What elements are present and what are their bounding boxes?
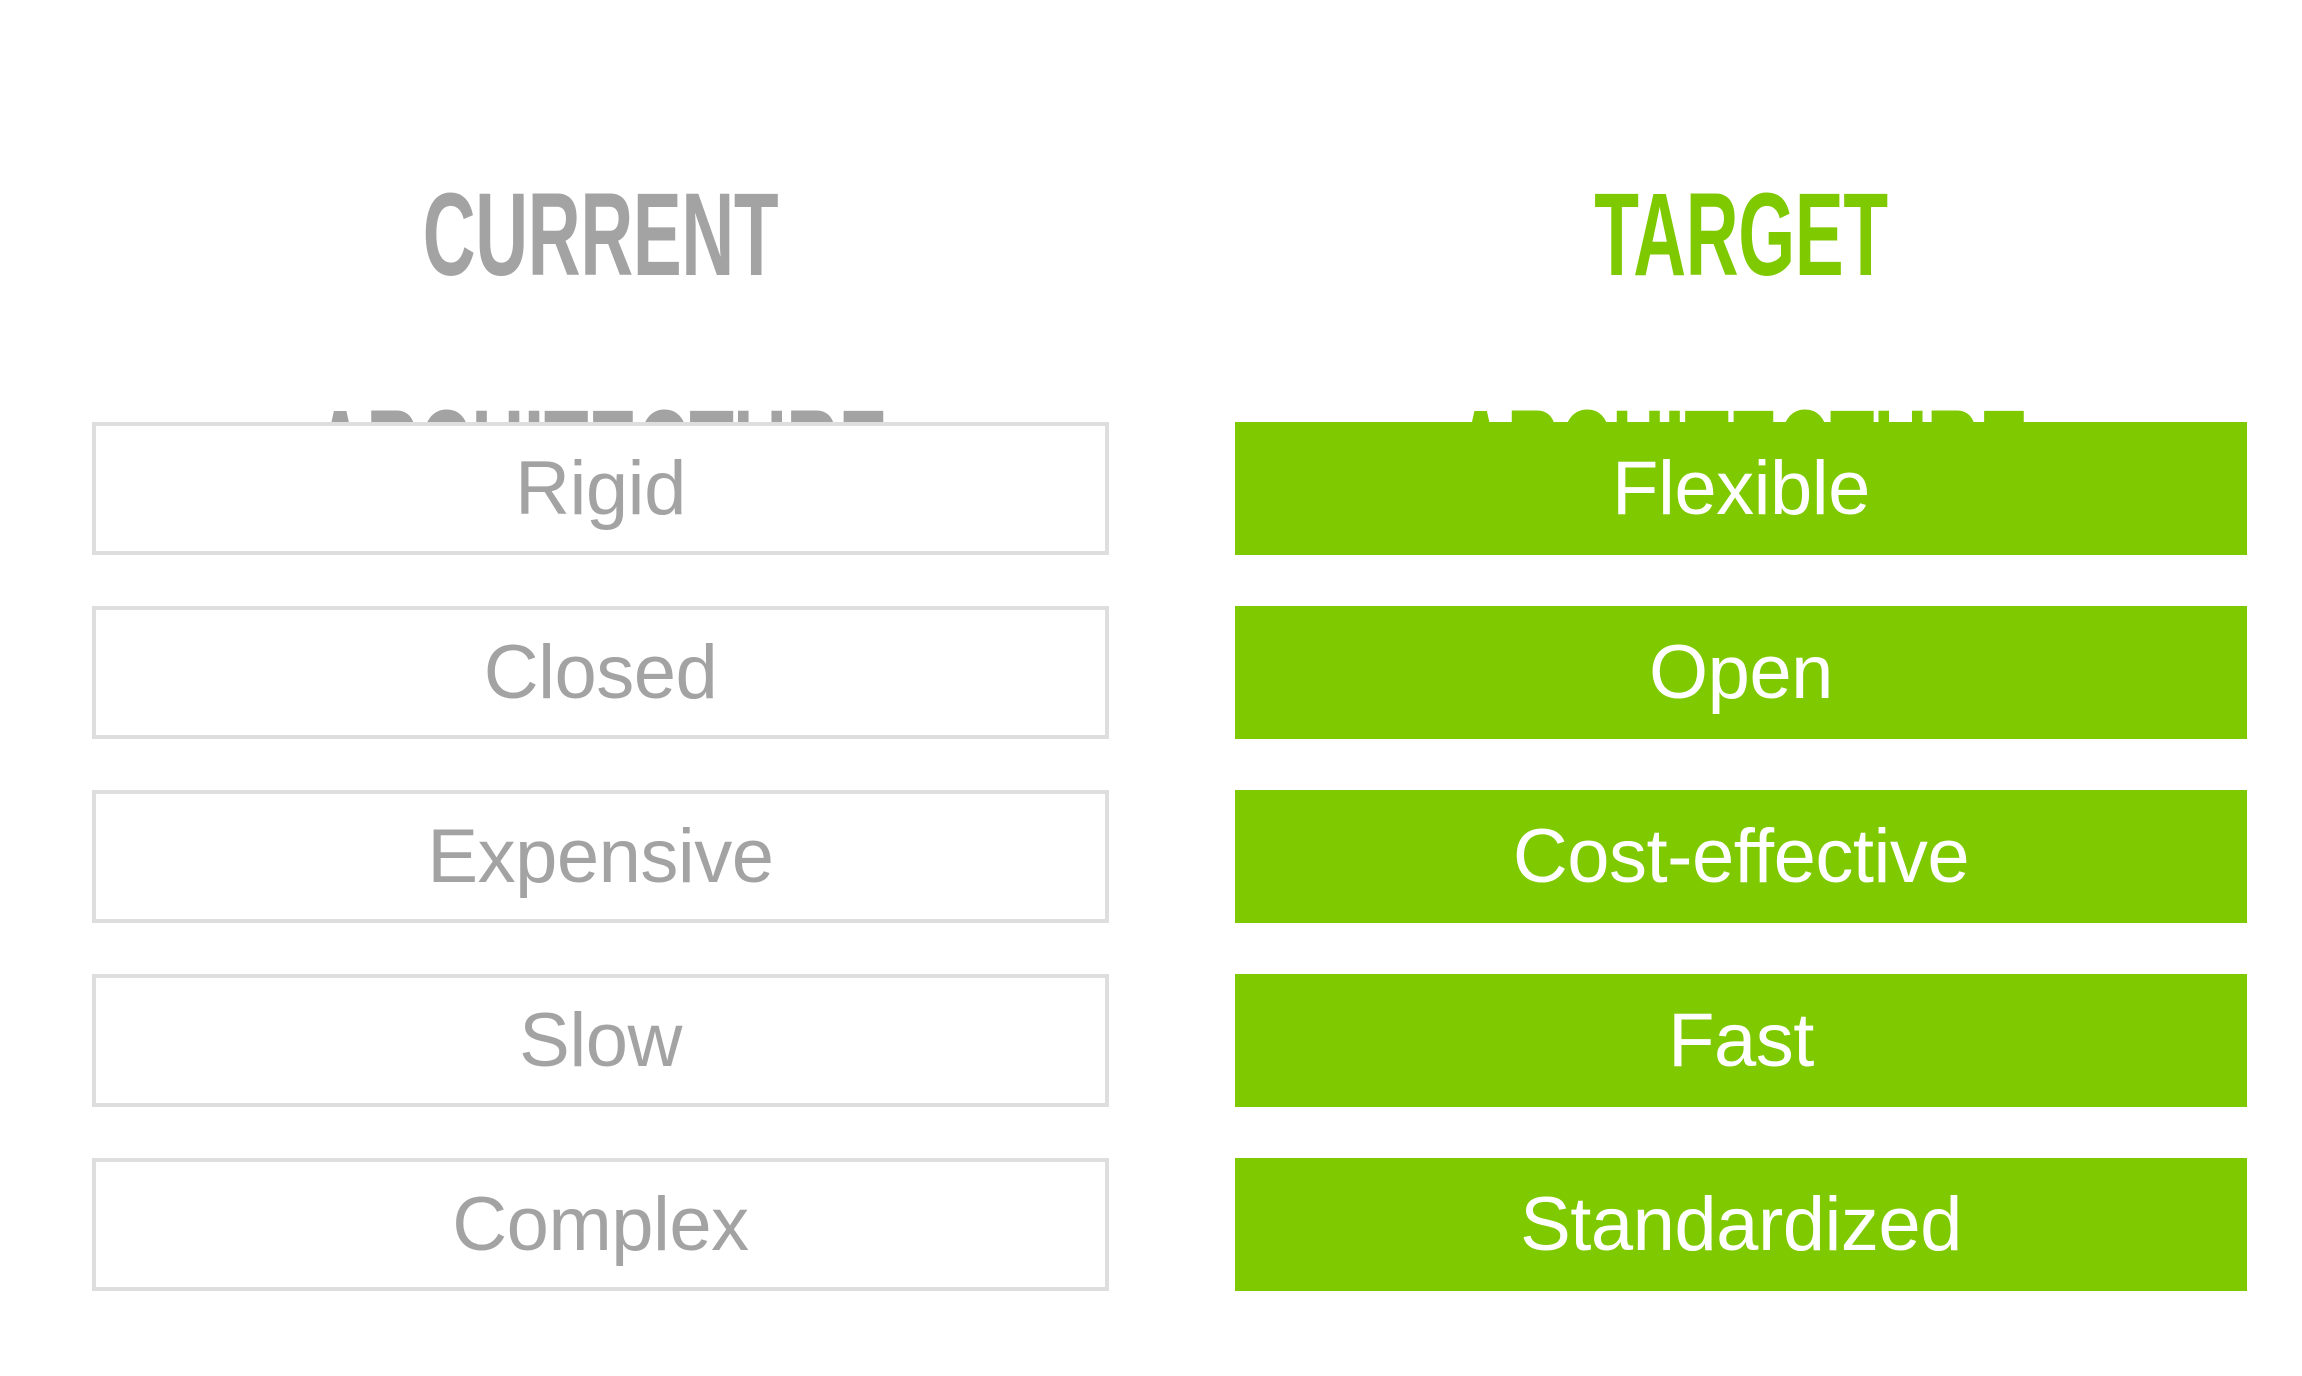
list-item-label: Rigid [515,451,686,527]
list-item-target-3[interactable]: Cost-effective [1235,790,2247,923]
heading-current-line-1: CURRENT [285,181,916,290]
comparison-board: CURRENT ARCHITECTURE Rigid Closed Expens… [0,0,2302,1376]
list-item-current-3[interactable]: Expensive [92,790,1109,923]
list-item-label: Fast [1668,1003,1814,1079]
current-architecture-list: Rigid Closed Expensive Slow Complex [92,422,1109,1291]
column-target-architecture: TARGET ARCHITECTURE Flexible Open Cost-e… [1235,0,2247,1376]
list-item-label: Complex [452,1187,748,1263]
list-item-label: Expensive [427,819,773,895]
list-item-label: Slow [519,1003,682,1079]
list-item-label: Open [1649,635,1833,711]
list-item-current-5[interactable]: Complex [92,1158,1109,1291]
list-item-current-4[interactable]: Slow [92,974,1109,1107]
list-item-target-4[interactable]: Fast [1235,974,2247,1107]
target-architecture-list: Flexible Open Cost-effective Fast Standa… [1235,422,2247,1291]
list-item-current-1[interactable]: Rigid [92,422,1109,555]
list-item-label: Cost-effective [1513,819,1969,895]
list-item-label: Closed [484,635,718,711]
column-current-architecture: CURRENT ARCHITECTURE Rigid Closed Expens… [92,0,1109,1376]
list-item-target-1[interactable]: Flexible [1235,422,2247,555]
list-item-label: Flexible [1612,451,1870,527]
list-item-target-2[interactable]: Open [1235,606,2247,739]
list-item-label: Standardized [1520,1187,1962,1263]
list-item-target-5[interactable]: Standardized [1235,1158,2247,1291]
list-item-current-2[interactable]: Closed [92,606,1109,739]
heading-target-line-1: TARGET [1427,181,2054,290]
